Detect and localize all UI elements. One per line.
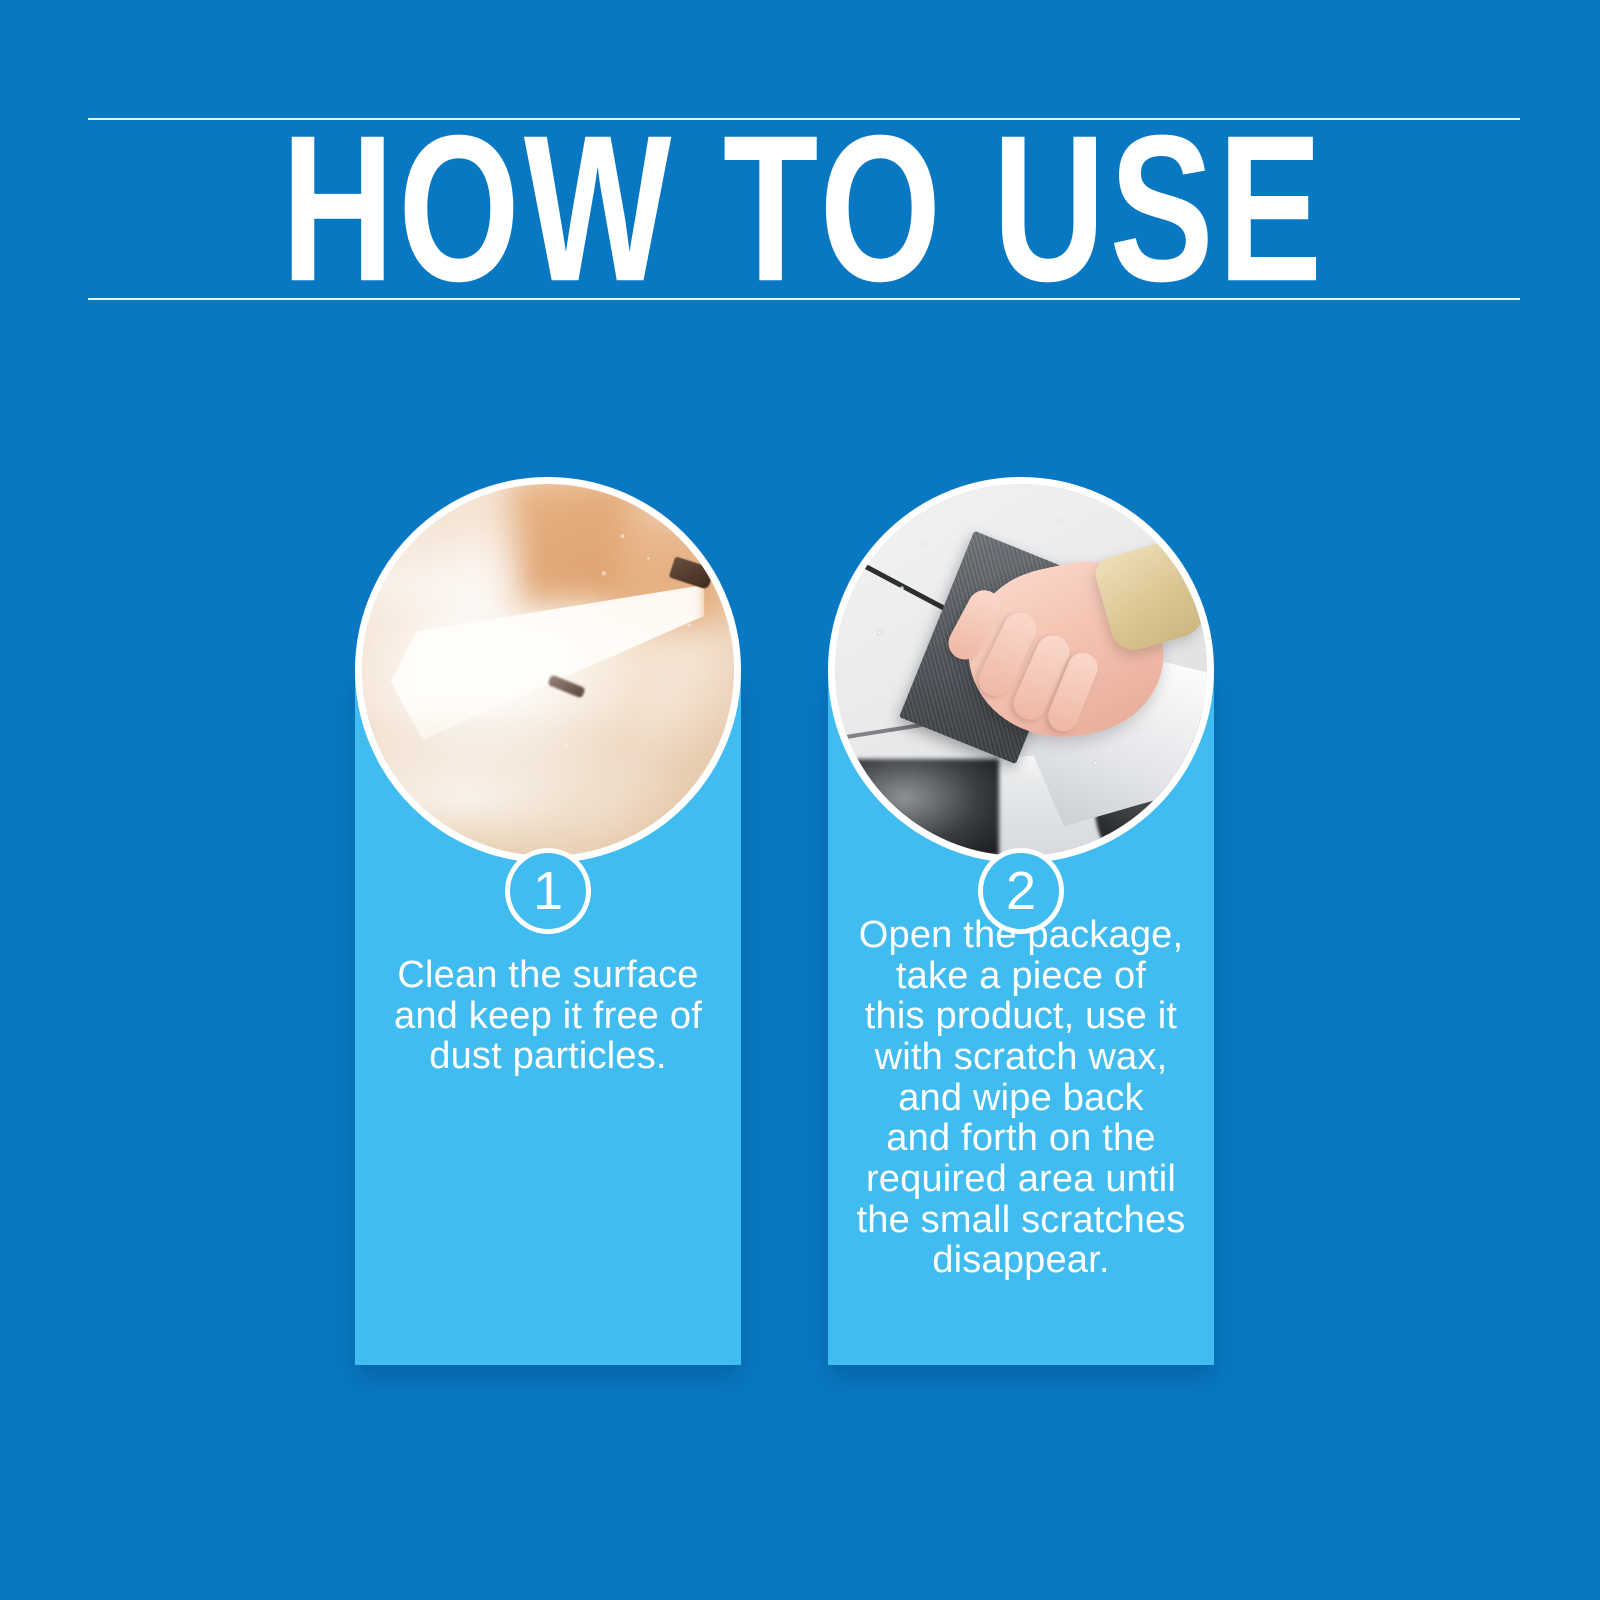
spray-photo-droplets [362,484,734,856]
step-card-1: 1 Clean the surface and keep it free of … [355,670,741,1365]
car-photo-droplets [835,484,1207,856]
page-title: HOW TO USE [88,130,1520,288]
step-number-badge-1: 1 [505,848,591,934]
header: HOW TO USE [88,118,1520,300]
step-card-2: 2 Open the package, take a piece of this… [828,670,1214,1365]
step-2-photo-inner [835,484,1207,856]
step-2-photo [828,477,1214,863]
step-1-photo [355,477,741,863]
step-1-description: Clean the surface and keep it free of du… [365,955,731,1077]
page-title-text: HOW TO USE [282,105,1327,314]
step-number-2: 2 [1006,864,1036,918]
step-1-photo-inner [362,484,734,856]
how-to-use-poster: HOW TO USE 1 Clean the surface and keep … [0,0,1600,1600]
step-2-description: Open the package, take a piece of this p… [838,915,1204,1281]
step-number-1: 1 [533,864,563,918]
title-rule-bottom [88,298,1520,300]
